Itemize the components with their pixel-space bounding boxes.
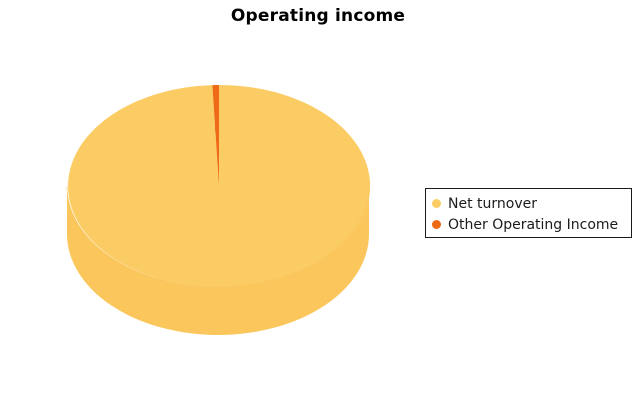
legend-label-other-operating-income: Other Operating Income [448, 217, 618, 233]
pie-slice-net-turnover[interactable] [68, 85, 370, 287]
pie-plot-area [0, 0, 440, 400]
pie-chart-figure: Operating income Net [0, 0, 636, 400]
pie-svg [0, 0, 440, 400]
legend-item-other-operating-income[interactable]: Other Operating Income [426, 214, 631, 235]
legend-swatch-icon-other-operating-income [432, 220, 441, 229]
legend-swatch-icon-net-turnover [432, 199, 441, 208]
legend-label-net-turnover: Net turnover [448, 196, 537, 212]
chart-legend: Net turnover Other Operating Income [425, 188, 632, 238]
legend-item-net-turnover[interactable]: Net turnover [426, 193, 631, 214]
